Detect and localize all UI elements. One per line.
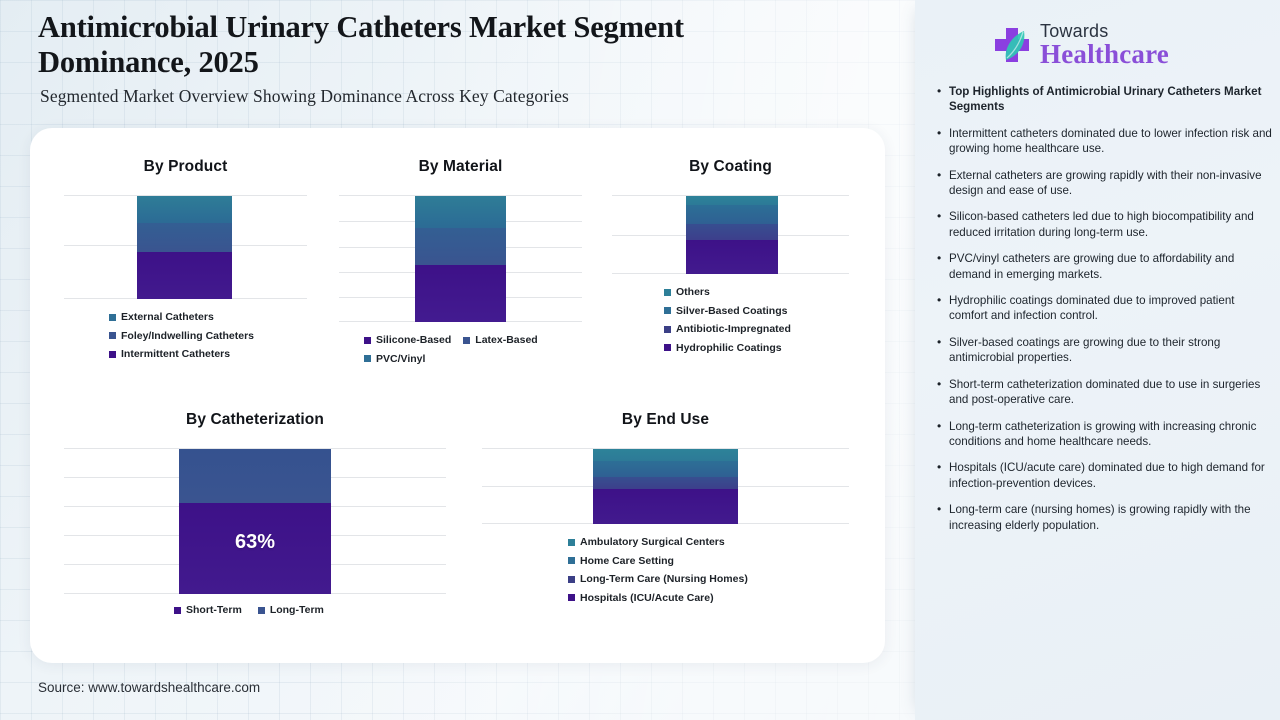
plot-by-material bbox=[339, 195, 582, 322]
plot-by-end-use bbox=[482, 448, 849, 524]
legend-swatch-icon bbox=[568, 576, 575, 583]
list-item: • PVC/vinyl catheters are growing due to… bbox=[933, 251, 1273, 282]
chart-title-by-material: By Material bbox=[339, 158, 582, 176]
legend-item[interactable]: Silicone-Based bbox=[364, 335, 451, 346]
bullet-dot-icon: • bbox=[933, 377, 949, 408]
bar-segment-long-term[interactable] bbox=[179, 449, 331, 503]
stacked-bar[interactable] bbox=[686, 196, 778, 274]
legend-swatch-icon bbox=[109, 314, 116, 321]
legend-item[interactable]: Silver-Based Coatings bbox=[664, 306, 849, 317]
legend-label: Intermittent Catheters bbox=[121, 349, 230, 360]
bar-segment-short-term[interactable]: 63% bbox=[179, 503, 331, 594]
highlights-panel: Towards Healthcare • Top Highlights of A… bbox=[915, 0, 1280, 720]
highlight-heading: • Top Highlights of Antimicrobial Urinar… bbox=[933, 84, 1273, 115]
legend-item[interactable]: Short-Term bbox=[174, 605, 242, 616]
legend-item[interactable]: Long-Term bbox=[258, 605, 324, 616]
chart-title-by-catheterization: By Catheterization bbox=[64, 411, 446, 429]
bullet-dot-icon: • bbox=[933, 419, 949, 450]
legend-label: Home Care Setting bbox=[580, 556, 674, 567]
brand-line-1: Towards bbox=[1040, 22, 1169, 40]
stacked-bar[interactable] bbox=[137, 196, 232, 299]
plot-by-coating bbox=[612, 195, 849, 274]
list-item: • Short-term catheterization dominated d… bbox=[933, 377, 1273, 408]
legend-item[interactable]: Hospitals (ICU/Acute Care) bbox=[568, 593, 849, 604]
chart-title-by-product: By Product bbox=[64, 158, 307, 176]
bullet-dot-icon: • bbox=[933, 460, 949, 491]
legend-swatch-icon bbox=[568, 539, 575, 546]
legend-by-material: Silicone-Based Latex-Based PVC/Vinyl bbox=[339, 335, 582, 372]
legend-label: Antibiotic-Impregnated bbox=[676, 324, 791, 335]
bar-segment-latex-based[interactable] bbox=[415, 228, 506, 266]
highlights-list: • Top Highlights of Antimicrobial Urinar… bbox=[933, 84, 1273, 544]
stacked-bar[interactable]: 63% bbox=[179, 449, 331, 594]
legend-swatch-icon bbox=[568, 557, 575, 564]
legend-item[interactable]: Intermittent Catheters bbox=[109, 349, 307, 360]
legend-swatch-icon bbox=[568, 594, 575, 601]
highlight-text: Short-term catheterization dominated due… bbox=[949, 377, 1273, 408]
highlight-text: PVC/vinyl catheters are growing due to a… bbox=[949, 251, 1273, 282]
legend-label: Ambulatory Surgical Centers bbox=[580, 537, 725, 548]
legend-label: Long-Term bbox=[270, 605, 324, 616]
legend-label: Short-Term bbox=[186, 605, 242, 616]
legend-item[interactable]: Foley/Indwelling Catheters bbox=[109, 331, 307, 342]
bullet-dot-icon: • bbox=[933, 209, 949, 240]
chart-by-coating: By Coating Others Silver-Based Coatings bbox=[612, 158, 849, 361]
list-item: • Silicon-based catheters led due to hig… bbox=[933, 209, 1273, 240]
legend-by-product: External Catheters Foley/Indwelling Cath… bbox=[64, 312, 307, 360]
highlight-text: Hydrophilic coatings dominated due to im… bbox=[949, 293, 1273, 324]
legend-by-end-use: Ambulatory Surgical Centers Home Care Se… bbox=[482, 537, 849, 603]
list-item: • External catheters are growing rapidly… bbox=[933, 168, 1273, 199]
legend-label: Silver-Based Coatings bbox=[676, 306, 787, 317]
legend-swatch-icon bbox=[109, 332, 116, 339]
brand-logo: Towards Healthcare bbox=[990, 22, 1169, 68]
legend-swatch-icon bbox=[664, 307, 671, 314]
list-item: • Hospitals (ICU/acute care) dominated d… bbox=[933, 460, 1273, 491]
plot-by-catheterization: 63% bbox=[64, 448, 446, 594]
page-title: Antimicrobial Urinary Catheters Market S… bbox=[38, 10, 838, 81]
highlight-text: Long-term care (nursing homes) is growin… bbox=[949, 502, 1273, 533]
bar-segment-antibiotic-impregnated[interactable] bbox=[686, 224, 778, 240]
legend-label: Latex-Based bbox=[475, 335, 537, 346]
bar-segment-pvc-vinyl[interactable] bbox=[415, 196, 506, 228]
bar-segment-ambulatory-surgical-centers[interactable] bbox=[593, 449, 738, 461]
bar-segment-foley-indwelling-catheters[interactable] bbox=[137, 223, 232, 252]
bar-segment-hospitals-icu-acute-care[interactable] bbox=[593, 489, 738, 524]
legend-item[interactable]: Ambulatory Surgical Centers bbox=[568, 537, 849, 548]
bullet-dot-icon: • bbox=[933, 84, 949, 115]
legend-label: Hydrophilic Coatings bbox=[676, 343, 782, 354]
chart-title-by-coating: By Coating bbox=[612, 158, 849, 176]
chart-by-catheterization: By Catheterization 63% Short-Term Lon bbox=[64, 411, 446, 624]
legend-label: PVC/Vinyl bbox=[376, 354, 425, 365]
legend-item[interactable]: Antibiotic-Impregnated bbox=[664, 324, 849, 335]
legend-by-catheterization: Short-Term Long-Term bbox=[64, 605, 446, 624]
bar-segment-others[interactable] bbox=[686, 196, 778, 205]
legend-by-coating: Others Silver-Based Coatings Antibiotic-… bbox=[612, 287, 849, 353]
chart-by-material: By Material Silicone-Based Latex-Based bbox=[339, 158, 582, 372]
legend-swatch-icon bbox=[664, 289, 671, 296]
legend-item[interactable]: Others bbox=[664, 287, 849, 298]
bullet-dot-icon: • bbox=[933, 251, 949, 282]
highlight-text: Silicon-based catheters led due to high … bbox=[949, 209, 1273, 240]
legend-label: Foley/Indwelling Catheters bbox=[121, 331, 254, 342]
legend-item[interactable]: External Catheters bbox=[109, 312, 307, 323]
brand-line-2: Healthcare bbox=[1040, 41, 1169, 68]
legend-item[interactable]: Hydrophilic Coatings bbox=[664, 343, 849, 354]
list-item: • Hydrophilic coatings dominated due to … bbox=[933, 293, 1273, 324]
list-item: • Silver-based coatings are growing due … bbox=[933, 335, 1273, 366]
legend-item[interactable]: Long-Term Care (Nursing Homes) bbox=[568, 574, 849, 585]
legend-item[interactable]: PVC/Vinyl bbox=[364, 354, 570, 365]
highlight-text: Intermittent catheters dominated due to … bbox=[949, 126, 1273, 157]
list-item: • Long-term care (nursing homes) is grow… bbox=[933, 502, 1273, 533]
bar-segment-hydrophilic-coatings[interactable] bbox=[686, 240, 778, 274]
legend-swatch-icon bbox=[364, 337, 371, 344]
highlight-text: Long-term catheterization is growing wit… bbox=[949, 419, 1273, 450]
legend-item[interactable]: Latex-Based bbox=[463, 335, 537, 346]
medical-cross-leaf-icon bbox=[990, 23, 1034, 67]
highlight-text: Hospitals (ICU/acute care) dominated due… bbox=[949, 460, 1273, 491]
legend-swatch-icon bbox=[664, 344, 671, 351]
list-item: • Intermittent catheters dominated due t… bbox=[933, 126, 1273, 157]
stacked-bar[interactable] bbox=[415, 196, 506, 322]
highlight-text: Silver-based coatings are growing due to… bbox=[949, 335, 1273, 366]
bullet-dot-icon: • bbox=[933, 335, 949, 366]
chart-by-end-use: By End Use Ambulatory Surgical Centers H… bbox=[482, 411, 849, 611]
legend-label: External Catheters bbox=[121, 312, 214, 323]
chart-by-product: By Product External Catheters Foley/Indw… bbox=[64, 158, 307, 368]
bullet-dot-icon: • bbox=[933, 126, 949, 157]
bar-segment-home-care-setting[interactable] bbox=[593, 461, 738, 477]
legend-label: Long-Term Care (Nursing Homes) bbox=[580, 574, 748, 585]
chart-title-by-end-use: By End Use bbox=[482, 411, 849, 429]
page-subtitle: Segmented Market Overview Showing Domina… bbox=[40, 86, 860, 107]
bullet-dot-icon: • bbox=[933, 168, 949, 199]
plot-by-product bbox=[64, 195, 307, 299]
legend-swatch-icon bbox=[174, 607, 181, 614]
bar-segment-intermittent-catheters[interactable] bbox=[137, 252, 232, 299]
left-region: Antimicrobial Urinary Catheters Market S… bbox=[0, 0, 915, 720]
source-text: Source: www.towardshealthcare.com bbox=[38, 680, 260, 695]
bullet-dot-icon: • bbox=[933, 502, 949, 533]
legend-swatch-icon bbox=[109, 351, 116, 358]
legend-label: Others bbox=[676, 287, 710, 298]
brand-logo-text: Towards Healthcare bbox=[1040, 22, 1169, 68]
legend-label: Silicone-Based bbox=[376, 335, 451, 346]
legend-swatch-icon bbox=[364, 355, 371, 362]
bar-segment-long-term-care-nursing-homes[interactable] bbox=[593, 477, 738, 489]
highlight-text: External catheters are growing rapidly w… bbox=[949, 168, 1273, 199]
legend-swatch-icon bbox=[664, 326, 671, 333]
stacked-bar[interactable] bbox=[593, 449, 738, 524]
legend-label: Hospitals (ICU/Acute Care) bbox=[580, 593, 714, 604]
bar-segment-silver-based-coatings[interactable] bbox=[686, 205, 778, 224]
legend-item[interactable]: Home Care Setting bbox=[568, 556, 849, 567]
highlight-heading-text: Top Highlights of Antimicrobial Urinary … bbox=[949, 84, 1273, 115]
bar-data-label: 63% bbox=[179, 531, 331, 554]
bar-segment-silicone-based[interactable] bbox=[415, 265, 506, 322]
legend-swatch-icon bbox=[463, 337, 470, 344]
bullet-dot-icon: • bbox=[933, 293, 949, 324]
legend-swatch-icon bbox=[258, 607, 265, 614]
bar-segment-external-catheters[interactable] bbox=[137, 196, 232, 223]
list-item: • Long-term catheterization is growing w… bbox=[933, 419, 1273, 450]
